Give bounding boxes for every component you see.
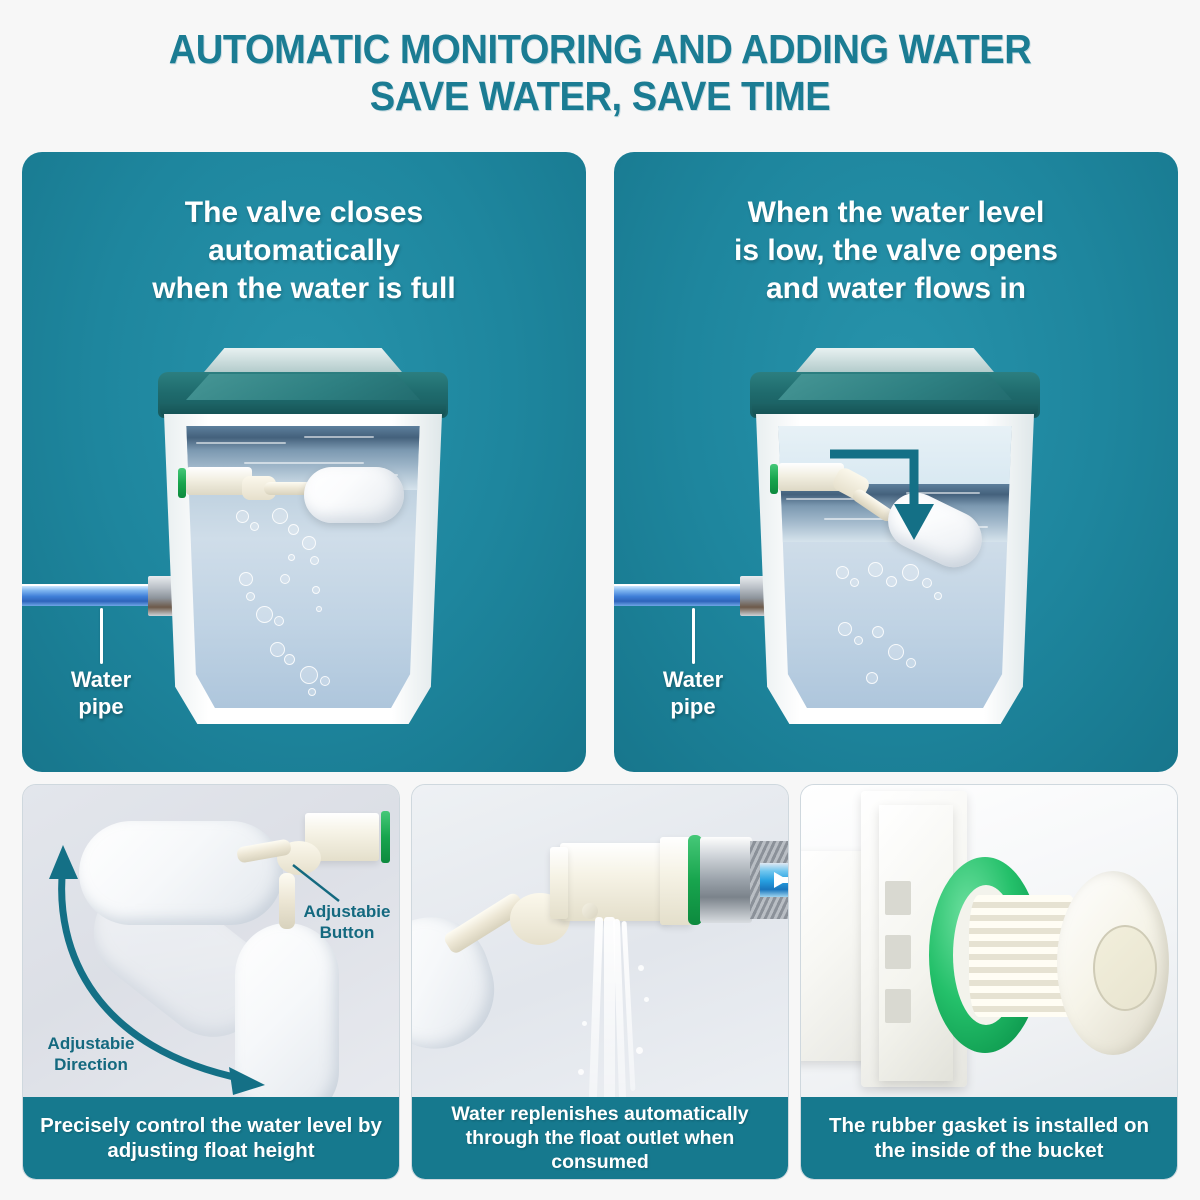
panel-left-heading-line-2: automatically (46, 232, 562, 270)
panel-valve-closed: The valve closes automatically when the … (22, 152, 586, 772)
bottom-caption-1: Precisely control the water level by adj… (23, 1097, 399, 1179)
water-droplet (582, 1021, 587, 1026)
bubble (310, 556, 319, 565)
bubble (888, 644, 904, 660)
adjustable-direction-label: Adjustabie Direction (31, 1033, 151, 1075)
bubble (838, 622, 852, 636)
bubble (850, 578, 859, 587)
bottom-caption-2: Water replenishes automatically through … (412, 1097, 788, 1179)
bubble (922, 578, 932, 588)
bubble (284, 654, 295, 665)
water-pipe-leader-line (692, 608, 695, 664)
infographic-page: AUTOMATIC MONITORING AND ADDING WATER SA… (0, 0, 1200, 1200)
valve-body (560, 843, 670, 921)
water-streak (196, 442, 286, 444)
water-stream (589, 917, 603, 1101)
water-streak (244, 462, 364, 464)
bubble (872, 626, 884, 638)
bubble (316, 606, 322, 612)
panel-water-replenish: Water replenishes automatically through … (411, 784, 789, 1180)
flow-direction-arrow-icon (764, 869, 788, 891)
gasket-ring-icon (770, 464, 778, 494)
water-pipe-callout: Water pipe (638, 666, 748, 720)
panel-right-heading: When the water level is low, the valve o… (614, 194, 1178, 308)
bubble (320, 676, 330, 686)
panel-float-adjustment: Adjustabie Button Adjustabie Direction P… (22, 784, 400, 1180)
bucket-lid-face (778, 374, 1012, 400)
bubble (300, 666, 318, 684)
valve-slot (885, 989, 911, 1023)
panel-right-heading-line-2: is low, the valve opens (638, 232, 1154, 270)
title-line-2: SAVE WATER, SAVE TIME (42, 73, 1158, 120)
bottom-caption-3: The rubber gasket is installed on the in… (801, 1097, 1177, 1179)
bubble (886, 576, 897, 587)
gasket-ring-icon (178, 468, 186, 498)
bottom-caption-1-line-1: Precisely control the water level by (40, 1113, 382, 1138)
float-ball (304, 467, 404, 523)
bubble (302, 536, 316, 550)
water-droplet (636, 1047, 643, 1054)
adjustable-button-label: Adjustabie Button (293, 901, 399, 943)
water-droplet (644, 997, 649, 1002)
bubble (836, 566, 849, 579)
float-outlet-photo (412, 785, 788, 1103)
water-pipe-graphic (22, 584, 152, 606)
adjustable-direction-label-line-1: Adjustabie (31, 1033, 151, 1054)
title-line-1: AUTOMATIC MONITORING AND ADDING WATER (42, 26, 1158, 73)
bottom-caption-3-line-1: The rubber gasket is installed on (829, 1113, 1149, 1138)
water-droplet (578, 1069, 584, 1075)
bubble (902, 564, 919, 581)
bubble (272, 508, 288, 524)
bubble (308, 688, 316, 696)
bubble (288, 524, 299, 535)
bubble (854, 636, 863, 645)
water-droplet (638, 965, 644, 971)
adjustable-button-label-line-2: Button (293, 922, 399, 943)
bucket-illustration (158, 348, 448, 728)
bubble (280, 574, 290, 584)
panel-right-heading-line-3: and water flows in (638, 270, 1154, 308)
panel-left-heading-line-3: when the water is full (46, 270, 562, 308)
bubble (256, 606, 273, 623)
water-pipe-callout-line-2: pipe (46, 693, 156, 720)
valve-body-side (550, 847, 568, 919)
bottom-caption-2-line-1: Water replenishes automatically (451, 1102, 748, 1126)
gasket-ring-icon (381, 811, 390, 863)
water-streak (304, 436, 374, 438)
bottom-caption-1-line-2: adjusting float height (40, 1138, 382, 1163)
nozzle-opening (1093, 925, 1157, 1011)
bottom-caption-3-line-2: the inside of the bucket (829, 1138, 1149, 1163)
rubber-gasket-photo (801, 785, 1177, 1103)
water-pipe-leader-line (100, 608, 103, 664)
panel-rubber-gasket: The rubber gasket is installed on the in… (800, 784, 1178, 1180)
bubble (246, 592, 255, 601)
chrome-nut (700, 837, 752, 923)
bubble (934, 592, 942, 600)
water-pipe-graphic (614, 584, 744, 606)
water-pipe-callout-line-2: pipe (638, 693, 748, 720)
bubble (288, 554, 295, 561)
bubble (906, 658, 916, 668)
bubble (239, 572, 253, 586)
adjustable-direction-label-line-2: Direction (31, 1054, 151, 1075)
bubble (274, 616, 284, 626)
bottom-caption-2-line-2: through the float outlet when (451, 1126, 748, 1150)
page-title: AUTOMATIC MONITORING AND ADDING WATER SA… (0, 26, 1200, 120)
panel-left-heading-line-1: The valve closes (46, 194, 562, 232)
panel-left-heading: The valve closes automatically when the … (22, 194, 586, 308)
water-pipe-callout-line-1: Water (638, 666, 748, 693)
adjustable-button-label-line-1: Adjustabie (293, 901, 399, 922)
bubble (312, 586, 320, 594)
water-pipe-callout: Water pipe (46, 666, 156, 720)
float-down-arrow-icon (830, 444, 940, 564)
panel-right-heading-line-1: When the water level (638, 194, 1154, 232)
panel-valve-open: When the water level is low, the valve o… (614, 152, 1178, 772)
float-adjustment-photo: Adjustabie Button Adjustabie Direction (23, 785, 399, 1103)
bubble (868, 562, 883, 577)
valve-slot (885, 881, 911, 915)
valve-slot (885, 935, 911, 969)
bubble (866, 672, 878, 684)
bucket-illustration (750, 348, 1040, 728)
water-pipe-callout-line-1: Water (46, 666, 156, 693)
bubble (250, 522, 259, 531)
bottom-caption-2-line-3: consumed (451, 1150, 748, 1174)
bubble (236, 510, 249, 523)
bubble (270, 642, 285, 657)
bucket-lid-face (186, 374, 420, 400)
